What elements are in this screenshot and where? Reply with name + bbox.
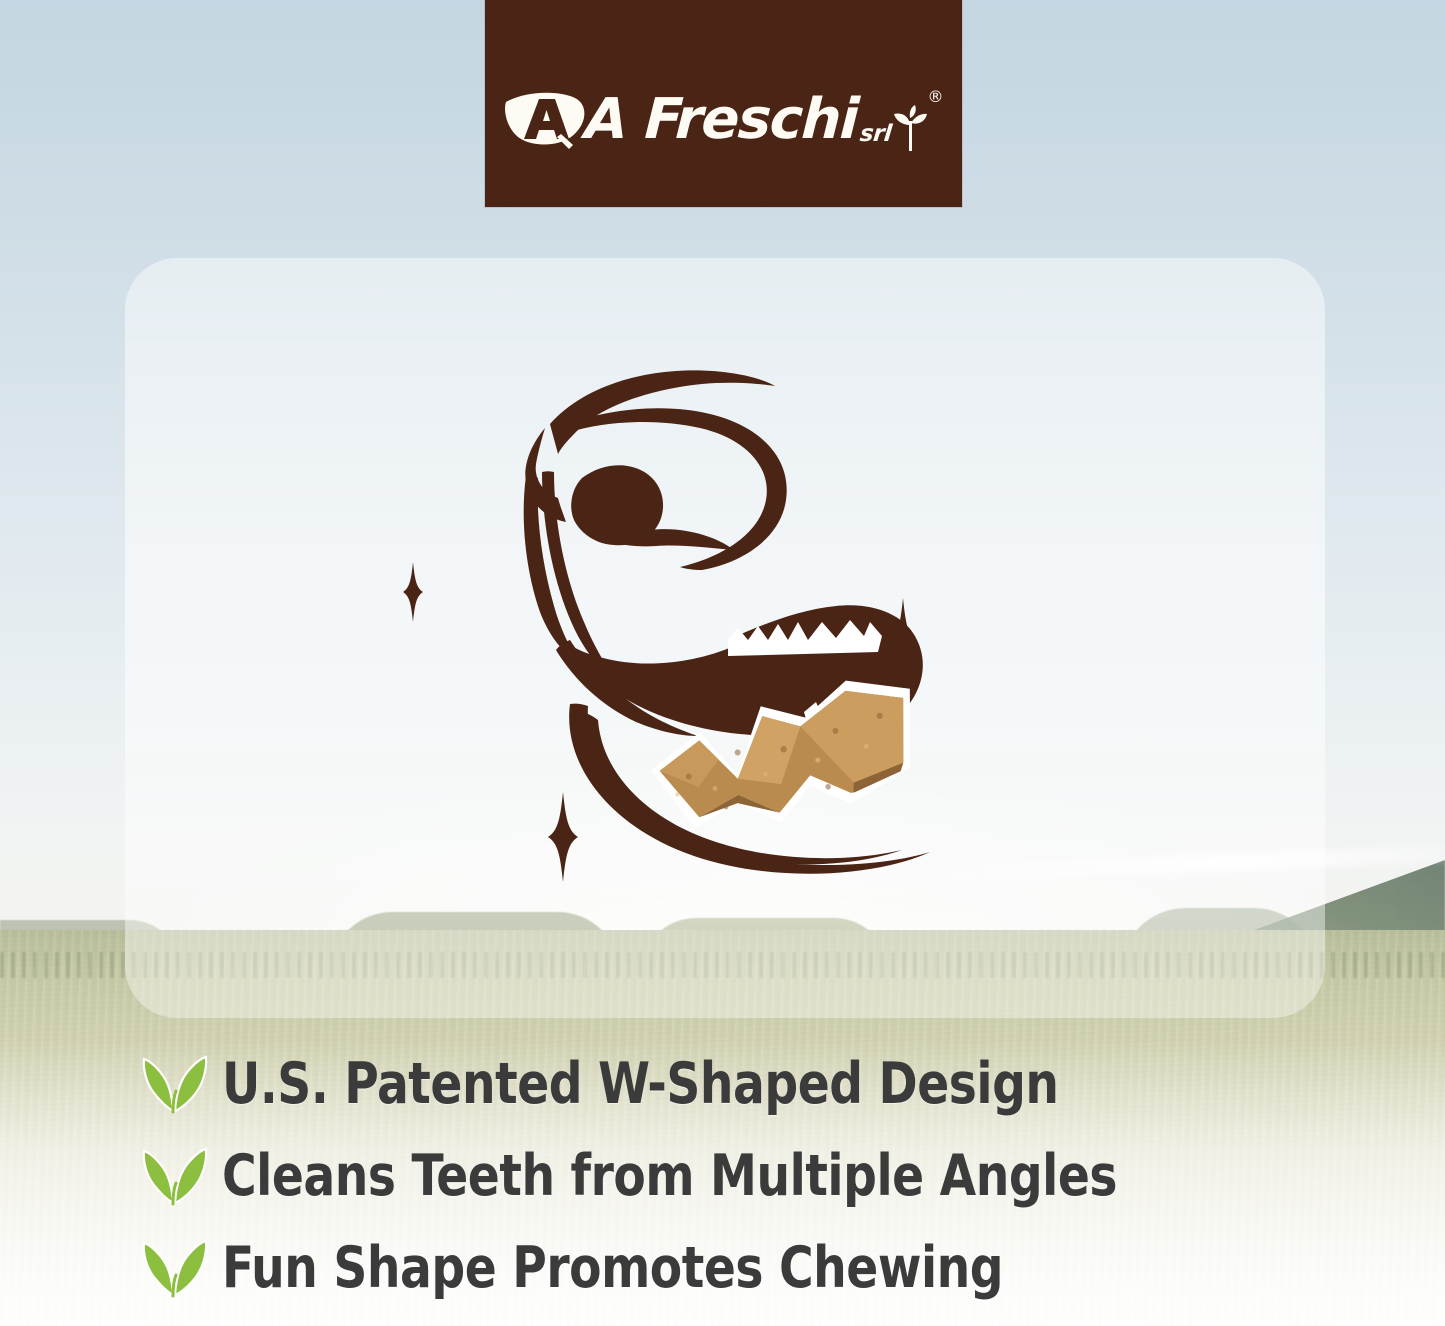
product-feature-graphic: A Freschi srl ®: [0, 0, 1445, 1326]
brand-logo-bar: A Freschi srl ®: [485, 0, 962, 207]
leaf-a-mark-icon: [503, 89, 591, 151]
list-item: Fun Shape Promotes Chewing: [142, 1222, 1342, 1314]
brand-name: A Freschi: [584, 92, 860, 148]
leaf-bullet-icon: [142, 1237, 208, 1299]
feature-label: Cleans Teeth from Multiple Angles: [222, 1148, 1117, 1205]
brand-suffix: srl: [859, 121, 893, 147]
feature-label: U.S. Patented W-Shaped Design: [222, 1056, 1059, 1113]
sprout-icon: [893, 105, 927, 151]
feature-label: Fun Shape Promotes Chewing: [222, 1240, 1003, 1297]
leaf-bullet-icon: [142, 1145, 208, 1207]
list-item: Cleans Teeth from Multiple Angles: [142, 1130, 1342, 1222]
list-item: U.S. Patented W-Shaped Design: [142, 1038, 1342, 1130]
registered-trademark-symbol: ®: [928, 87, 944, 106]
leaf-bullet-icon: [142, 1053, 208, 1115]
dog-head-chewing-w-treat-illustration: [330, 350, 1030, 930]
feature-list: U.S. Patented W-Shaped Design Cleans Tee…: [142, 1038, 1342, 1314]
